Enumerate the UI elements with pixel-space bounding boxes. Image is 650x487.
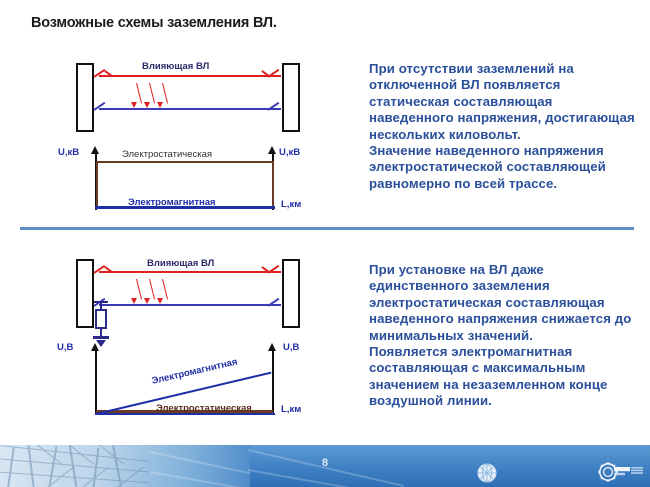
- description-text-top: При отсутствии заземлений на отключенной…: [369, 61, 637, 192]
- axis-right-bottom: [272, 350, 274, 413]
- grounding-crossbar-bottom: [93, 336, 109, 339]
- coupling-arrow-2-top: [149, 83, 155, 104]
- axis-right-label-bottom: U,В: [283, 342, 299, 353]
- grounding-switch-icon-bottom: [95, 309, 107, 329]
- influencing-line-label-bottom: Влияющая ВЛ: [147, 258, 214, 269]
- axis-right-label-top: U,кВ: [279, 147, 300, 158]
- axis-left-arrow-bottom: [91, 343, 99, 351]
- description-text-bottom: При установке на ВЛ даже единственного з…: [369, 262, 637, 410]
- page-number: 8: [322, 457, 328, 469]
- influencing-line-label-top: Влияющая ВЛ: [142, 61, 209, 72]
- substation-left-top: [76, 63, 94, 132]
- coupling-arrow-3-bottom: [162, 279, 168, 300]
- coupling-arrow-2-bottom: [149, 279, 155, 300]
- diagram-bottom: Влияющая ВЛ U,В U,В Электростатическая Э…: [0, 245, 350, 435]
- substation-left-bottom: [76, 259, 94, 328]
- substation-right-top: [282, 63, 300, 132]
- tower-artwork: [0, 445, 250, 487]
- affected-line-bottom: [99, 304, 281, 306]
- axis-bottom-label-bottom: L,км: [281, 404, 301, 415]
- axis-left-arrow-top: [91, 146, 99, 154]
- globe-logo: [476, 462, 498, 484]
- coupling-arrow-1-bottom: [136, 279, 142, 300]
- gear-logo: [597, 461, 645, 483]
- curve-electrostatic-top: [96, 161, 273, 163]
- coupling-arrow-3-top: [162, 83, 168, 104]
- section-divider: [20, 227, 634, 230]
- curve-connector-right-top: [272, 161, 274, 208]
- affected-line-top: [99, 108, 281, 110]
- axis-left-label-bottom: U,В: [57, 342, 73, 353]
- influencing-line-top: [99, 75, 281, 77]
- influencing-line-bottom: [99, 271, 281, 273]
- axis-right-arrow-bottom: [268, 343, 276, 351]
- coupling-arrow-1-top: [136, 83, 142, 104]
- curve-electromagnetic-label-top: Электромагнитная: [128, 197, 216, 208]
- axis-right-arrow-top: [268, 146, 276, 154]
- grounding-crossbar-top-bottom: [94, 301, 108, 303]
- diagram-top: Влияющая ВЛ U,кВ U,кВ Электростатическая…: [0, 0, 350, 225]
- axis-bottom-label-top: L,км: [281, 199, 301, 210]
- curve-connector-left-top: [96, 161, 98, 208]
- slide-canvas: Возможные схемы заземления ВЛ. Влияющая …: [0, 0, 650, 487]
- curve-electrostatic-label-top: Электростатическая: [122, 149, 212, 160]
- slide-footer: 8: [0, 445, 650, 487]
- footer-swoosh-4: [248, 469, 416, 487]
- axis-left-bottom: [95, 350, 97, 413]
- axis-left-label-top: U,кВ: [58, 147, 79, 158]
- substation-right-bottom: [282, 259, 300, 328]
- axis-baseline-bottom: [95, 413, 275, 415]
